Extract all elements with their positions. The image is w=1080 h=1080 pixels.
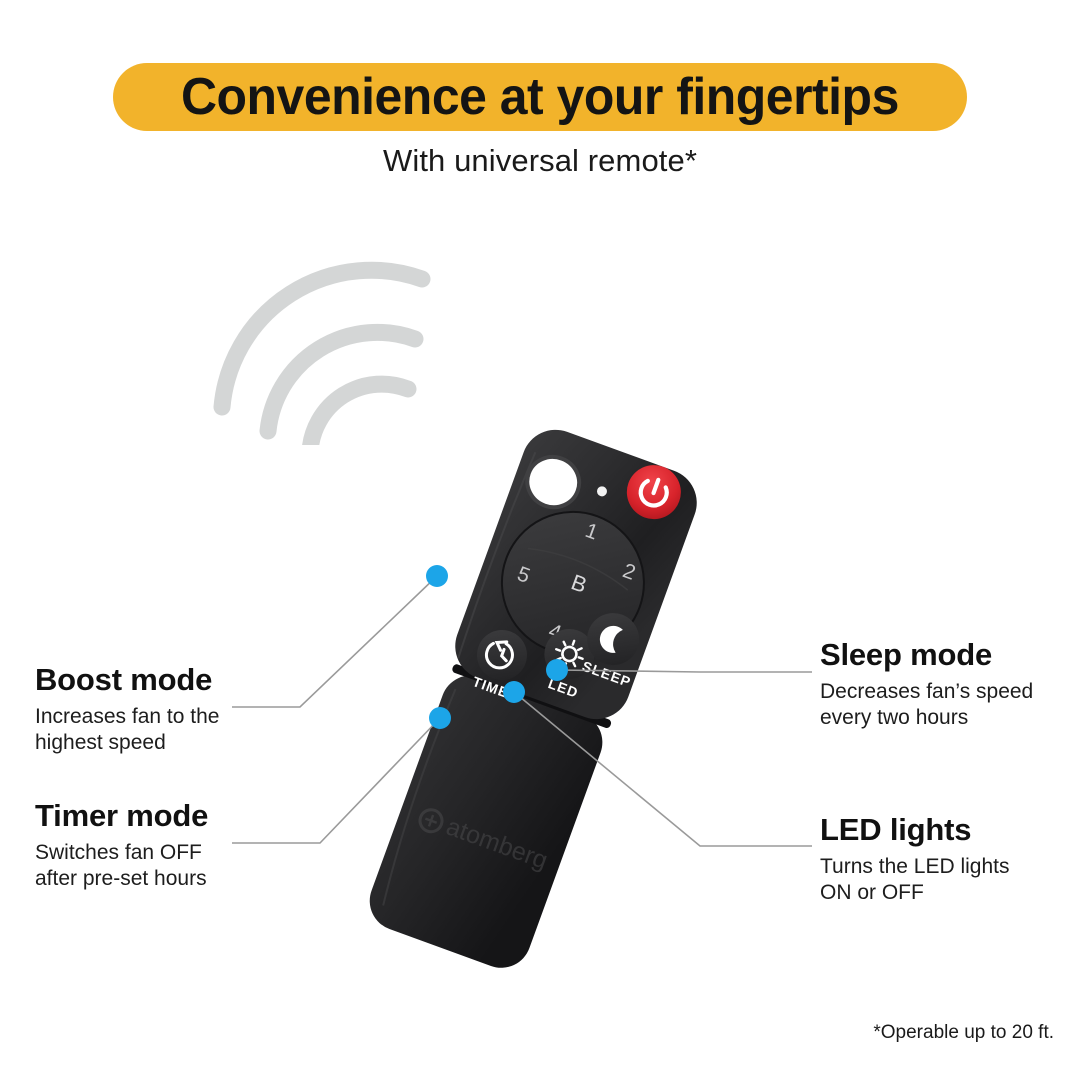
page-title: Convenience at your fingertips [181,67,899,127]
callout-timer: Timer mode Switches fan OFF after pre-se… [35,798,208,893]
callout-boost-description: Increases fan to the highest speed [35,704,219,757]
callout-sleep: Sleep mode Decreases fan’s speed every t… [820,637,1033,732]
callout-sleep-description: Decreases fan’s speed every two hours [820,679,1033,732]
remote-control: 1 2 3 4 5 B TIMER [300,395,760,995]
page-subtitle: With universal remote* [0,143,1080,179]
title-banner: Convenience at your fingertips [113,63,967,131]
callout-led: LED lights Turns the LED lights ON or OF… [820,812,1009,907]
callout-timer-title: Timer mode [35,798,208,834]
callout-led-title: LED lights [820,812,1009,848]
callout-timer-description: Switches fan OFF after pre-set hours [35,840,208,893]
callout-led-description: Turns the LED lights ON or OFF [820,854,1009,907]
callout-sleep-title: Sleep mode [820,637,1033,673]
footnote: *Operable up to 20 ft. [873,1022,1054,1044]
callout-boost-title: Boost mode [35,662,219,698]
callout-boost: Boost mode Increases fan to the highest … [35,662,219,757]
